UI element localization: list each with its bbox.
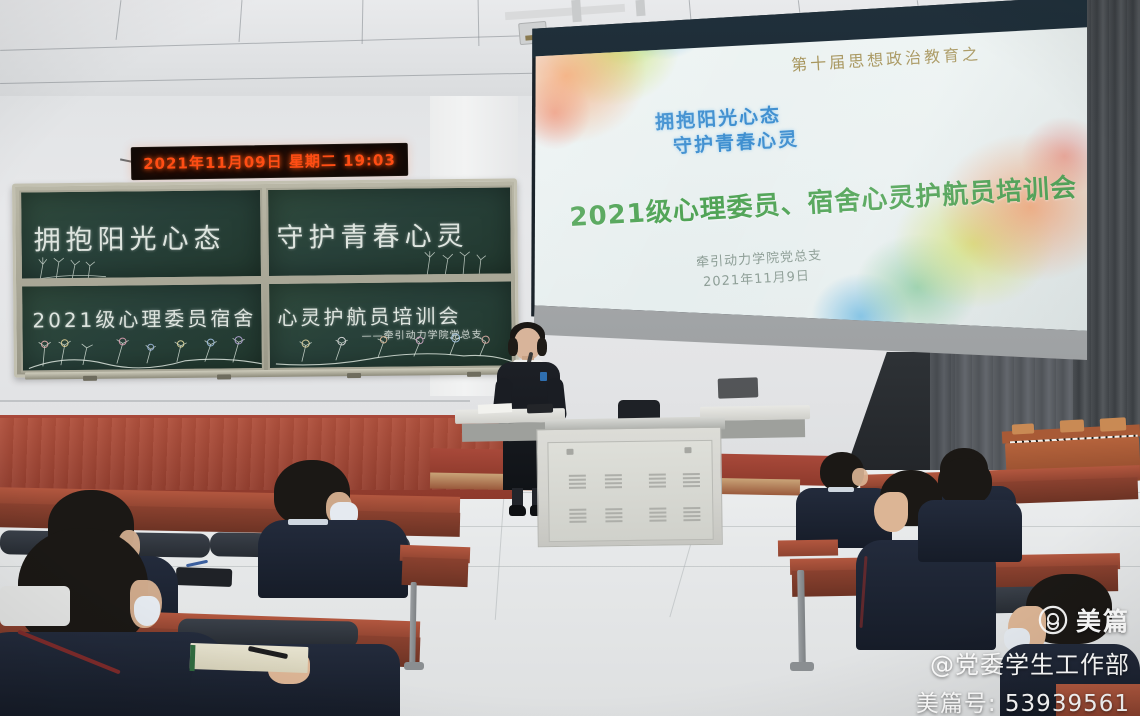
projected-slide: 第十届思想政治教育之 拥抱阳光心态 守护青春心灵 2021级心理委员、宿舍心灵护… (521, 0, 1087, 360)
desk-foot-right (790, 662, 814, 671)
podium-cabinet-door[interactable] (547, 440, 713, 542)
notebook-spine (190, 645, 196, 671)
student-collar (828, 487, 854, 492)
presenter-badge (540, 372, 547, 381)
chalk-vine-drawing-left (27, 332, 264, 373)
watermark-brand-text: 美篇 (1076, 602, 1130, 638)
presenter-hair-right (537, 338, 547, 356)
chalk-tray-clip-4 (467, 372, 481, 377)
podium-lock-left[interactable] (566, 449, 573, 455)
presenter-shoe-left (509, 505, 526, 516)
chalk-vine-drawing-right (274, 331, 514, 370)
face-mask (134, 596, 160, 626)
slide-header: 第十届思想政治教育之 (790, 40, 981, 75)
pencil-pouch (176, 567, 233, 587)
presenter-hair-left (508, 338, 518, 356)
student-torso (258, 520, 408, 598)
podium-cabinet[interactable] (536, 427, 723, 548)
wall-baseline-seam (0, 400, 470, 402)
watermark-brand: 美篇 (1038, 602, 1130, 638)
chalk-flower-sketch-2 (419, 248, 489, 277)
piano-music-rest-2 (1060, 419, 1085, 432)
blackboard-panel-bottom-right: 心灵护航员培训会 ——牵引动力学院党总支 (267, 279, 514, 370)
piano-music-rest-1 (1012, 423, 1034, 434)
desk-foot-left (404, 662, 424, 670)
watermark-account: @党委学生工作部 (930, 645, 1130, 680)
wall-mounted-device (718, 377, 759, 398)
chalk-tray-clip-1 (83, 376, 97, 381)
piano-music-rest-3 (1100, 417, 1127, 431)
student-face-profile (874, 492, 908, 532)
blackboard: 拥抱阳光心态 守护青春心灵 (12, 178, 519, 377)
blackboard-panel-top-left: 拥抱阳光心态 (19, 188, 263, 281)
meipian-logo-icon (1038, 605, 1068, 635)
podium-lock-right[interactable] (684, 447, 691, 453)
slide-subtitle: 2021级心理委员、宿舍心灵护航员培训会 (568, 167, 1078, 234)
led-display-text: 2021年11月09日 星期二 19:03 (143, 149, 396, 174)
blackboard-panel-bottom-left: 2021级心理委员宿舍 (20, 282, 264, 373)
student-head (938, 458, 992, 506)
podium-microphone-base (527, 404, 553, 414)
chair-far-left (0, 586, 70, 626)
chalk-tray-clip-3 (347, 373, 361, 378)
blackboard-text-bottom-left: 2021级心理委员宿舍 (32, 302, 256, 333)
student-torso (918, 500, 1022, 562)
chalk-flower-sketch-1 (36, 254, 106, 281)
projection-screen: 第十届思想政治教育之 拥抱阳光心态 守护青春心灵 2021级心理委员、宿舍心灵护… (521, 0, 1087, 360)
student-collar (288, 519, 328, 525)
desk-center-right-small (778, 539, 838, 556)
classroom-photo-scene: 2021年11月09日 星期二 19:03 拥抱阳光心态 守护青春心灵 (0, 0, 1140, 716)
podium-papers (478, 403, 512, 414)
blackboard-panel-top-right: 守护青春心灵 (266, 185, 513, 278)
blackboard-text-top-left: 拥抱阳光心态 (33, 216, 225, 257)
student-face (852, 468, 868, 486)
chalk-tray-clip-2 (217, 374, 231, 379)
led-scrolling-display: 2021年11月09日 星期二 19:03 (131, 143, 408, 180)
watermark-id: 美篇号: 53939561 (916, 684, 1130, 716)
